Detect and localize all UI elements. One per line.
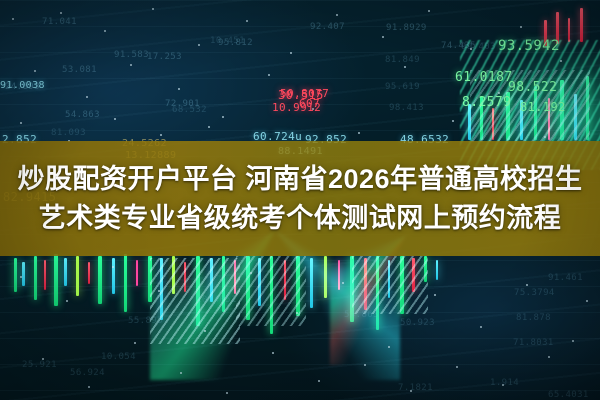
ticker-number: 95.619 xyxy=(385,82,420,92)
ticker-number: 7.1821 xyxy=(398,383,433,393)
ticker-number: 81.878 xyxy=(516,313,551,323)
ticker-number: 56.924 xyxy=(70,368,105,378)
ticker-number: 17.253 xyxy=(147,52,182,62)
ticker-number: 55.893 xyxy=(128,316,163,326)
ticker-number: 53.081 xyxy=(62,65,97,75)
ticker-number: 54.863 xyxy=(344,310,379,320)
ticker-number: 81.093 xyxy=(51,128,86,138)
ticker-number: 91.583 xyxy=(114,50,149,60)
ticker-number: 65.4031 xyxy=(548,390,589,400)
ticker-number: 24.693 xyxy=(5,82,40,92)
ticker-number: 75.3794 xyxy=(514,288,555,298)
ticker-number: 25.921 xyxy=(22,360,57,370)
ticker-number: 10.451 xyxy=(210,36,245,46)
ticker-number: 71.041 xyxy=(42,17,77,27)
ticker-number: 1.914 xyxy=(490,378,519,388)
ticker-number: 92.407 xyxy=(310,22,345,32)
ticker-number: 98.413 xyxy=(389,103,424,113)
ticker-number: 81.192 xyxy=(520,100,566,114)
ticker-number: 50.923 xyxy=(400,318,435,328)
ticker-number: 61.0187 xyxy=(455,70,513,85)
headline-line-1: 炒股配资开户平台 河南省2026年普通高校招生 xyxy=(17,162,582,197)
ticker-number: 99.403 xyxy=(461,42,496,52)
ticker-number: 71.8031 xyxy=(513,338,554,348)
ticker-number: 8.2579 xyxy=(462,95,511,110)
ticker-number: 68.532 xyxy=(172,105,207,115)
ticker-number: 91.461 xyxy=(548,273,583,283)
ticker-number: 10.054 xyxy=(101,352,136,362)
headline-block: 炒股配资开户平台 河南省2026年普通高校招生 艺术类专业省级统考个体测试网上预… xyxy=(0,141,600,256)
ticker-number: 50.8077 xyxy=(280,87,329,100)
headline-line-2: 艺术类专业省级统考个体测试网上预约流程 xyxy=(39,201,562,236)
ticker-number: 93.5942 xyxy=(498,38,560,54)
ticker-number: 98.522 xyxy=(508,80,557,95)
ticker-number: 10.4051 xyxy=(196,295,237,305)
banner-image: 93.594261.018798.5228.257981.19282.94153… xyxy=(0,0,600,400)
ticker-number: 91.8929 xyxy=(386,23,427,33)
ticker-number: 81.849 xyxy=(385,55,420,65)
ticker-number: 54.863 xyxy=(65,110,100,120)
